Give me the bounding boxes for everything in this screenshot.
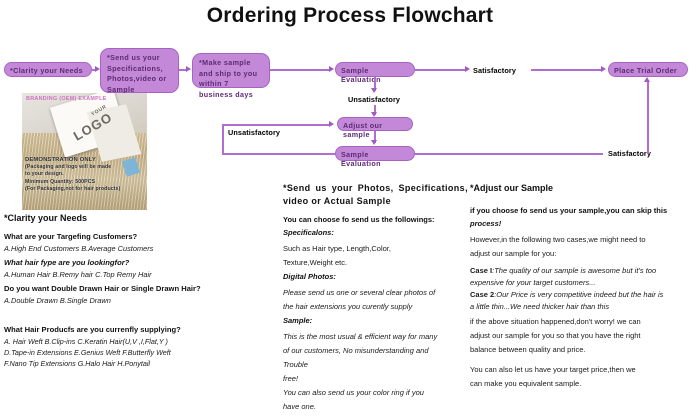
left-answer-4-line-2: D.Tape-in Extensions E.Genius Weft F.But…	[4, 348, 280, 358]
arrow-right-icon	[329, 121, 334, 127]
mid-body-3-line-4: free!	[283, 373, 468, 384]
photo-demo-line-5: (For Packaging,not for hair products)	[25, 186, 145, 193]
right-case-2-cont: a little thin...We need thicker hair tha…	[470, 301, 698, 312]
flow-connector-loop-to-adjust	[222, 124, 330, 126]
arrow-down-icon	[371, 88, 377, 93]
arrow-down-icon	[371, 112, 377, 117]
flow-connector-make-eval1	[270, 69, 330, 71]
mid-subheading-sample: Sample:	[283, 315, 468, 326]
left-answer-1: A.High End Customers B.Average Customers	[4, 244, 280, 255]
right-case-2: Case 2:Our Price is very competitive ind…	[470, 289, 698, 300]
right-case-2-text: :Our Price is very competitive indeed bu…	[494, 290, 663, 299]
arrow-right-icon	[465, 66, 470, 72]
flow-label-unsatisfactory-2: Unsatisfactory	[228, 128, 280, 137]
mid-body-1-line-2: Texture,Weight etc.	[283, 257, 468, 268]
left-question-4: What Hair Producfs are you currenfly sup…	[4, 325, 280, 336]
mid-body-3-line-3: Trouble	[283, 359, 468, 370]
left-answer-2: A.Human Hair B.Remy hair C.Top Remy Hair	[4, 270, 280, 281]
mid-body-3-line-1: This is the most usual & efficient way f…	[283, 331, 468, 342]
arrow-up-icon	[644, 77, 650, 82]
mid-body-4-line-2: have one.	[283, 401, 468, 412]
flow-node-make[interactable]: *Make sample and ship to you within 7 bu…	[192, 53, 270, 88]
mid-body-2-line-1: Please send us one or several clear phot…	[283, 287, 468, 298]
left-question-3: Do you want Double Drawn Hair or Single …	[4, 284, 280, 295]
photo-demo-line-4: Minimum Quantity: 500PCS	[25, 179, 145, 186]
flow-label-satisfactory-2: Satisfactory	[608, 149, 651, 158]
left-question-1: What are your Targefing Cusfomers?	[4, 232, 280, 243]
flow-connector-eval1-satisfactory	[415, 69, 466, 71]
left-answer-4-line-3: F.Nano Tip Extensions G.Halo Hair H.Pony…	[4, 359, 280, 369]
flow-node-clarify[interactable]: *Clarity your Needs	[4, 62, 92, 77]
flow-node-adjust-sample[interactable]: Adjust our sample	[337, 117, 413, 131]
flow-node-place-trial-order[interactable]: Place Trial Order	[608, 62, 688, 77]
right-case-1-label: Case I	[470, 266, 492, 275]
flow-label-satisfactory-1: Satisfactory	[473, 66, 516, 75]
mid-heading: *Send us your Photos, Specifications, vi…	[283, 182, 468, 207]
photo-branding-label: BRANDING (OEM) EXAMPLE	[26, 96, 107, 102]
flow-connector-loop-vertical	[222, 124, 224, 154]
flow-connector-eval2-left	[222, 153, 335, 155]
page-title: Ordering Process Flowchart	[0, 4, 700, 28]
left-heading: *Clarity your Needs	[4, 212, 280, 225]
right-body-3-line-2: can make you equivalent sample.	[470, 378, 698, 389]
photo-demo-line-3: to your design.	[25, 171, 145, 178]
flow-label-unsatisfactory-1: Unsatisfactory	[348, 95, 400, 104]
arrow-right-icon	[186, 66, 191, 72]
arrow-down-icon	[371, 140, 377, 145]
mid-lead: You can choose fo send us the followings…	[283, 214, 468, 225]
right-case-1-text: :The quality of our sample is awesome bu…	[492, 266, 656, 275]
flow-node-sample-evaluation-1[interactable]: Sample Evaluation	[335, 62, 415, 77]
section-adjust-our-sample: *Adjust our Sample if you choose fo send…	[470, 182, 698, 392]
right-body-2-line-3: balance between quality and price.	[470, 344, 698, 355]
mid-body-4-line-1: You can also send us your color ring if …	[283, 387, 468, 398]
mid-body-2-line-2: the hair extensions you curently supply	[283, 301, 468, 312]
flow-connector-satisfactory-order	[531, 69, 602, 71]
mid-body-1-line-1: Such as Hair type, Length,Color,	[283, 243, 468, 254]
left-question-2: What hair fype are you lookingfor?	[4, 258, 280, 269]
section-send-us-your-photos: *Send us your Photos, Specifications, vi…	[283, 182, 468, 415]
section-clarity-your-needs: *Clarity your Needs What are your Targef…	[4, 212, 280, 370]
right-case-2-label: Case 2	[470, 290, 494, 299]
right-heading: *Adjust our Sample	[470, 182, 698, 195]
mid-subheading-digital-photos: Digital Photos:	[283, 271, 468, 282]
arrow-right-icon	[601, 66, 606, 72]
right-body-2-line-2: adjust our sample for you so that you ha…	[470, 330, 698, 341]
left-answer-4-line-1: A. Hair Weft B.Clip-ins C.Keratin Hair(U…	[4, 337, 280, 347]
flow-connector-satisfactory2-up	[647, 80, 649, 154]
photo-demo-notice: DEMONSTRATION ONLY (Packaging and logo w…	[25, 157, 145, 193]
arrow-right-icon	[329, 66, 334, 72]
right-case-1-cont: expensive for your target customers...	[470, 277, 698, 288]
flow-node-sample-evaluation-2[interactable]: Sample Evaluation	[335, 146, 415, 161]
right-body-3-line-1: You can also let us have your target pri…	[470, 364, 698, 375]
flow-node-send[interactable]: *Send us your Specifications, Photos,vid…	[100, 48, 179, 93]
mid-body-3-line-2: of our customers, No misunderstanding an…	[283, 345, 468, 356]
left-answer-3: A.Double Drawn B.Single Drawn	[4, 296, 280, 307]
arrow-right-icon	[95, 66, 100, 72]
flow-connector-eval2-satisfactory2	[415, 153, 603, 155]
right-body-2-line-1: if the above situation happened,don't wo…	[470, 316, 698, 327]
branding-example-photo: YOUR LOGO BRANDING (OEM) EXAMPLE DEMONST…	[22, 93, 147, 210]
right-body-1-line-1: However,in the following two cases,we mi…	[470, 234, 698, 245]
right-lead-line-2: process!	[470, 218, 698, 229]
right-lead-line-1: if you choose fo send us your sample,you…	[470, 205, 698, 216]
right-case-1: Case I:The quality of our sample is awes…	[470, 265, 698, 276]
mid-subheading-specifications: Specificalons:	[283, 227, 468, 238]
right-body-1-line-2: adjust our sample for you:	[470, 248, 698, 259]
